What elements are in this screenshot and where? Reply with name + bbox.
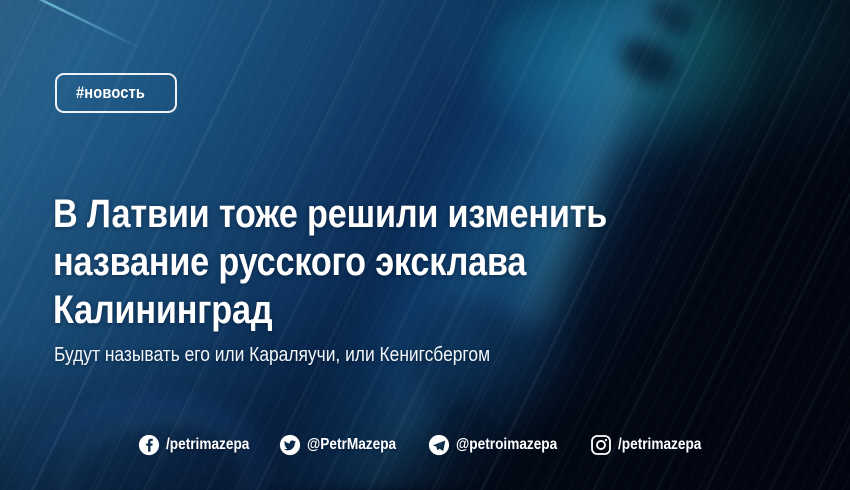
social-links-bar: /petrimazepa @PetrMazepa @petroimazepa (0, 434, 850, 456)
instagram-icon (590, 434, 612, 456)
twitter-icon (279, 434, 301, 456)
news-card: #новость В Латвии тоже решили изменить н… (0, 0, 850, 490)
social-link-facebook[interactable]: /petrimazepa (138, 434, 261, 456)
facebook-icon (138, 434, 160, 456)
social-handle-instagram: /petrimazepa (618, 436, 701, 454)
social-handle-facebook: /petrimazepa (166, 436, 249, 454)
social-link-twitter[interactable]: @PetrMazepa (279, 434, 408, 456)
social-link-telegram[interactable]: @petroimazepa (428, 434, 571, 456)
category-badge-label: #новость (76, 83, 145, 103)
category-badge[interactable]: #новость (55, 73, 177, 113)
telegram-icon (428, 434, 450, 456)
page-subtitle: Будут называть его или Караляучи, или Ке… (54, 342, 698, 368)
page-title: В Латвии тоже решили изменить название р… (53, 190, 652, 334)
social-handle-twitter: @PetrMazepa (307, 436, 396, 454)
social-handle-telegram: @petroimazepa (456, 436, 557, 454)
social-link-instagram[interactable]: /petrimazepa (590, 434, 713, 456)
